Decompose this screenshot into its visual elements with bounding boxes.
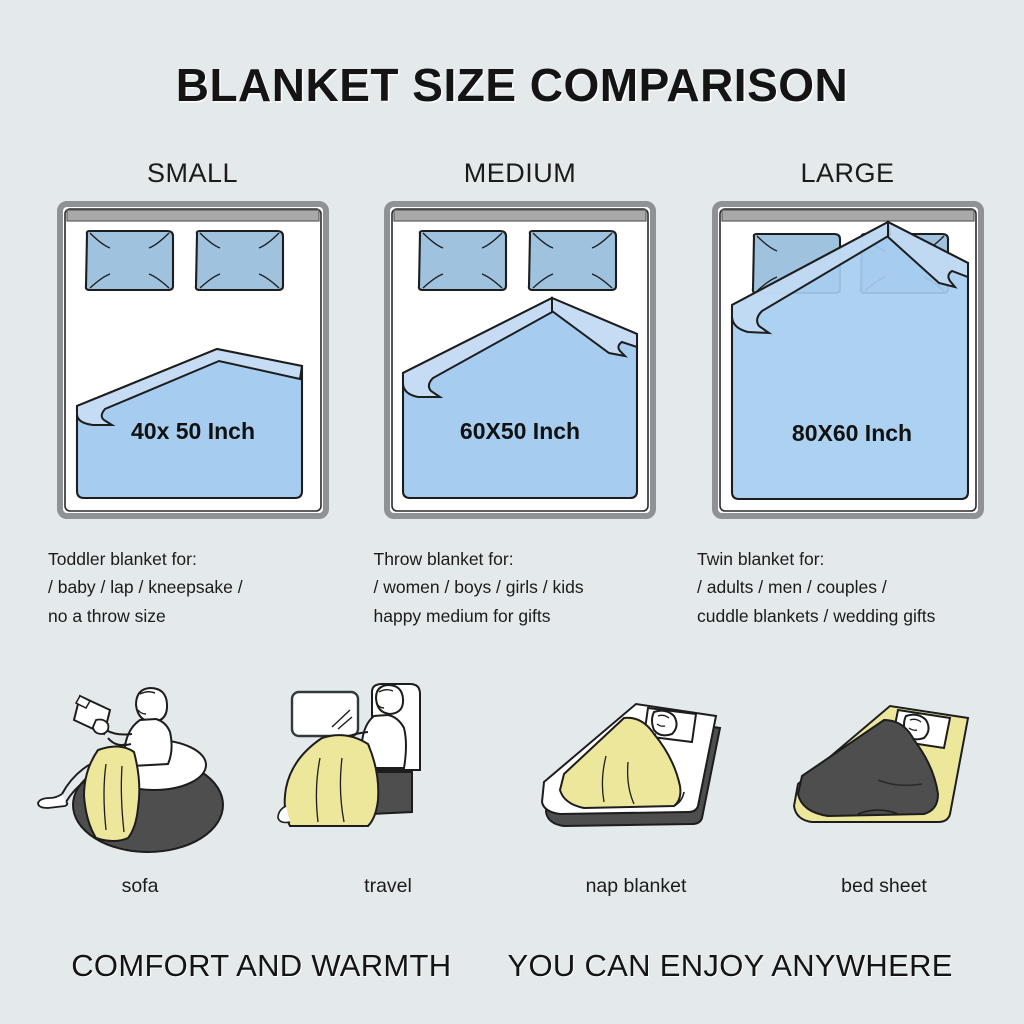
usage-label-nap-blanket: nap blanket: [586, 875, 687, 898]
description-medium: Throw blanket for: / women / boys / girl…: [368, 545, 584, 630]
size-column-large: LARGE 80X60 Inch Twin blanket for: / adu…: [695, 158, 1000, 630]
size-label-small: SMALL: [147, 158, 238, 189]
size-column-medium: MEDIUM 60X50 Inch Throw blanket f: [368, 158, 673, 630]
person-napping-on-bed-illustration: [524, 672, 749, 867]
footer-taglines: COMFORT AND WARMTH YOU CAN ENJOY ANYWHER…: [0, 948, 1024, 984]
usage-column-nap-blanket: nap blanket: [516, 672, 756, 898]
description-line: / baby / lap / kneepsake /: [48, 573, 243, 601]
size-dimension-large: 80X60 Inch: [791, 420, 911, 446]
description-line: / adults / men / couples /: [697, 573, 935, 601]
description-large: Twin blanket for: / adults / men / coupl…: [695, 545, 935, 630]
usage-illustration-row: sofa tra: [20, 672, 1004, 898]
size-dimension-small: 40x 50 Inch: [130, 418, 254, 444]
tagline-comfort: COMFORT AND WARMTH: [71, 948, 451, 984]
usage-label-travel: travel: [364, 875, 412, 898]
description-line: Throw blanket for:: [374, 545, 584, 573]
size-dimension-medium: 60X50 Inch: [460, 418, 580, 444]
bed-small: 40x 50 Inch: [57, 201, 329, 519]
size-label-large: LARGE: [800, 158, 894, 189]
bed-large: 80X60 Inch: [712, 201, 984, 519]
page-title: BLANKET SIZE COMPARISON: [0, 58, 1024, 112]
description-line: Toddler blanket for:: [48, 545, 243, 573]
size-column-small: SMALL 40x 50 Inch Toddler: [40, 158, 345, 630]
person-in-airplane-seat-illustration: [276, 672, 501, 867]
person-reading-on-beanbag-illustration: [28, 672, 253, 867]
tagline-enjoy: YOU CAN ENJOY ANYWHERE: [507, 948, 952, 984]
size-label-medium: MEDIUM: [464, 158, 577, 189]
usage-column-sofa: sofa: [20, 672, 260, 898]
usage-column-bed-sheet: bed sheet: [764, 672, 1004, 898]
description-line: cuddle blankets / wedding gifts: [697, 602, 935, 630]
dark-blanket-on-bed-illustration: [772, 672, 997, 867]
description-line: happy medium for gifts: [374, 602, 584, 630]
description-line: no a throw size: [48, 602, 243, 630]
usage-label-sofa: sofa: [122, 875, 159, 898]
description-small: Toddler blanket for: / baby / lap / knee…: [40, 545, 243, 630]
description-line: Twin blanket for:: [697, 545, 935, 573]
usage-column-travel: travel: [268, 672, 508, 898]
description-line: / women / boys / girls / kids: [374, 573, 584, 601]
usage-label-bed-sheet: bed sheet: [841, 875, 927, 898]
size-comparison-row: SMALL 40x 50 Inch Toddler: [40, 158, 1000, 630]
bed-medium: 60X50 Inch: [384, 201, 656, 519]
